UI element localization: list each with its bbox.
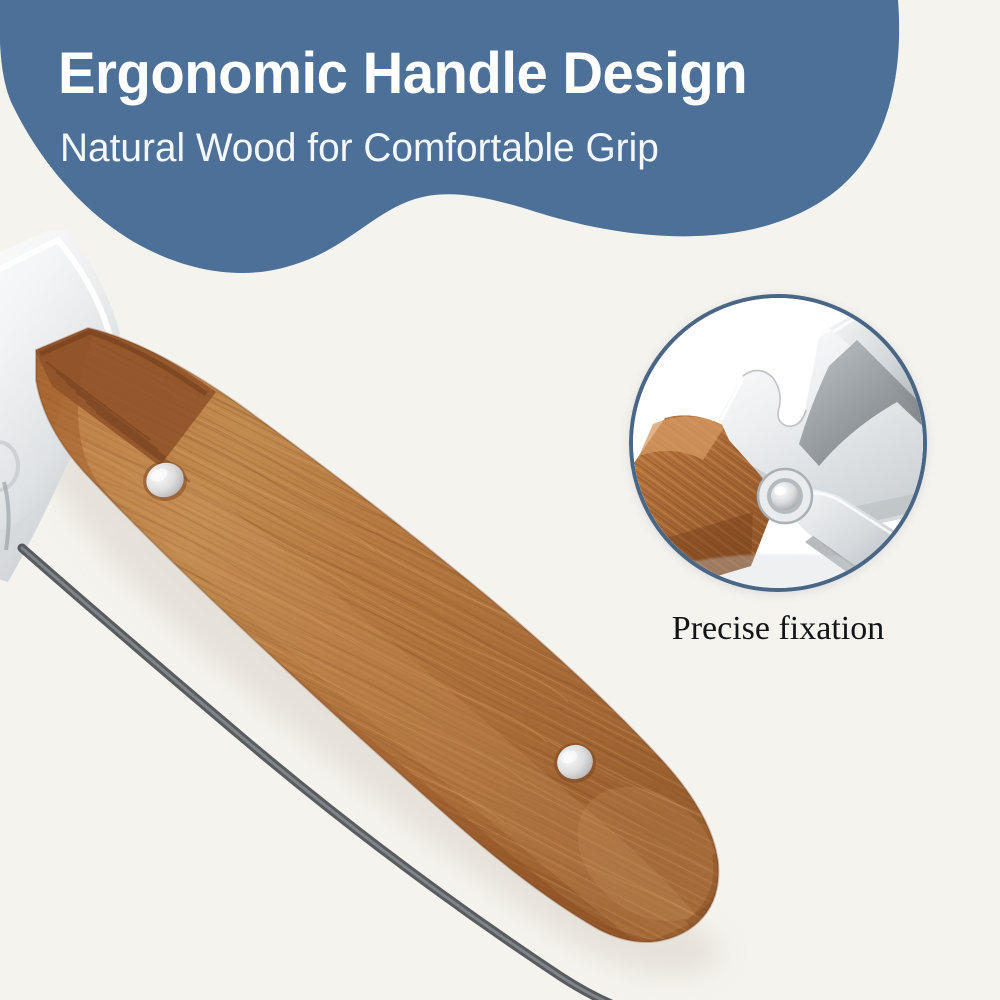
product-marketing-image: Ergonomic Handle Design Natural Wood for… [0, 0, 1000, 1000]
header-blob-shape [0, 0, 1000, 300]
inset-caption: Precise fixation [629, 608, 927, 650]
detail-inset-circle [629, 294, 927, 592]
detail-inset [629, 294, 927, 592]
header-banner [0, 0, 1000, 300]
detail-inset-illustration [633, 298, 923, 588]
inset-pivot-rivet [758, 469, 812, 523]
